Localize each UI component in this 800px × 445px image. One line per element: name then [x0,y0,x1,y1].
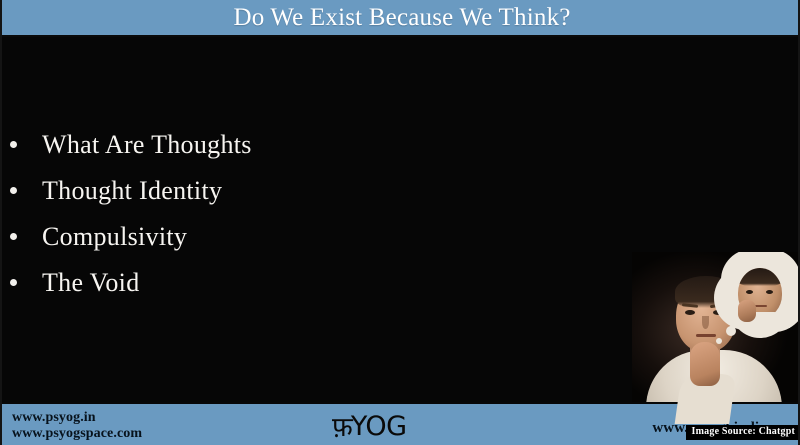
footer-link-psyogspace-com[interactable]: www.psyogspace.com [12,426,142,442]
thought-bubble-tail-small [716,338,722,344]
list-item: Compulsivity [10,224,480,250]
thinking-man-photo [632,252,800,424]
list-item: The Void [10,270,480,296]
bullet-item-label: Compulsivity [42,224,187,250]
man-mouth [696,334,716,337]
bullet-point-icon [10,141,17,148]
bullet-item-label: The Void [42,270,140,296]
slide-header-bar: Do We Exist Because We Think? [2,0,800,37]
man-nose [702,316,709,329]
bullet-item-label: What Are Thoughts [42,132,252,158]
bullet-item-label: Thought Identity [42,178,222,204]
presentation-slide: Do We Exist Because We Think? What Are T… [0,0,800,445]
topic-bullet-list: What Are Thoughts Thought Identity Compu… [10,132,480,316]
brand-logo-word: YOG [351,413,407,440]
man-hand-on-chin [690,342,720,386]
bullet-point-icon [10,279,17,286]
devanagari-mark-icon: फ़ [332,414,353,441]
bullet-point-icon [10,233,17,240]
list-item: Thought Identity [10,178,480,204]
thought-bubble-eye-right [766,290,773,294]
footer-links-left: www.psyog.in www.psyogspace.com [12,410,142,442]
thought-bubble-hair [738,268,782,286]
thought-bubble-icon [724,256,796,328]
footer-link-psyog-in[interactable]: www.psyog.in [12,410,142,426]
man-eye-right [713,310,723,315]
bullet-point-icon [10,187,17,194]
list-item: What Are Thoughts [10,132,480,158]
thought-bubble-eye-left [746,290,753,294]
thought-bubble-hand [738,300,756,322]
slide-title: Do We Exist Because We Think? [233,5,570,30]
man-eye-left [685,310,695,315]
slide-content-area: What Are Thoughts Thought Identity Compu… [2,37,800,402]
image-source-caption: Image Source: Chatgpt [686,425,800,440]
psyog-brand-logo: फ़ YOG [332,408,407,444]
